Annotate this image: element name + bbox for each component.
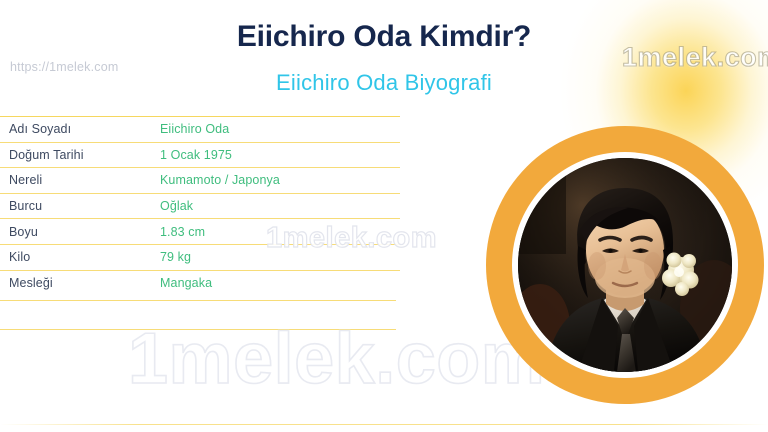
info-value: Kumamoto / Japonya [160, 173, 280, 187]
table-row: Kilo 79 kg [0, 244, 400, 270]
info-label: Kilo [0, 250, 160, 264]
table-row: Nereli Kumamoto / Japonya [0, 167, 400, 193]
info-value: 79 kg [160, 250, 191, 264]
info-value: 1 Ocak 1975 [160, 148, 232, 162]
info-label: Boyu [0, 225, 160, 239]
divider-line [0, 329, 396, 330]
watermark-bottom-left: 1melek.com [128, 318, 545, 400]
portrait [486, 126, 764, 404]
portrait-photo [518, 158, 732, 372]
info-value: Eiichiro Oda [160, 122, 229, 136]
info-label: Mesleği [0, 276, 160, 290]
info-label: Doğum Tarihi [0, 148, 160, 162]
table-row: Burcu Oğlak [0, 193, 400, 219]
page-title: Eiichiro Oda Kimdir? [0, 20, 768, 54]
table-row: Boyu 1.83 cm [0, 218, 400, 244]
portrait-illustration [518, 158, 732, 372]
info-value: Oğlak [160, 199, 193, 213]
biography-infographic: 1melek.com https://1melek.com Eiichiro O… [0, 0, 768, 432]
info-table: Adı Soyadı Eiichiro Oda Doğum Tarihi 1 O… [0, 116, 400, 295]
divider-line-bottom [0, 424, 768, 425]
page-subtitle: Eiichiro Oda Biyografi [0, 70, 768, 96]
divider-line [0, 300, 396, 301]
info-label: Nereli [0, 173, 160, 187]
table-row: Doğum Tarihi 1 Ocak 1975 [0, 142, 400, 168]
info-label: Burcu [0, 199, 160, 213]
table-row: Adı Soyadı Eiichiro Oda [0, 116, 400, 142]
info-value: Mangaka [160, 276, 212, 290]
info-value: 1.83 cm [160, 225, 205, 239]
table-row: Mesleği Mangaka [0, 270, 400, 296]
info-label: Adı Soyadı [0, 122, 160, 136]
